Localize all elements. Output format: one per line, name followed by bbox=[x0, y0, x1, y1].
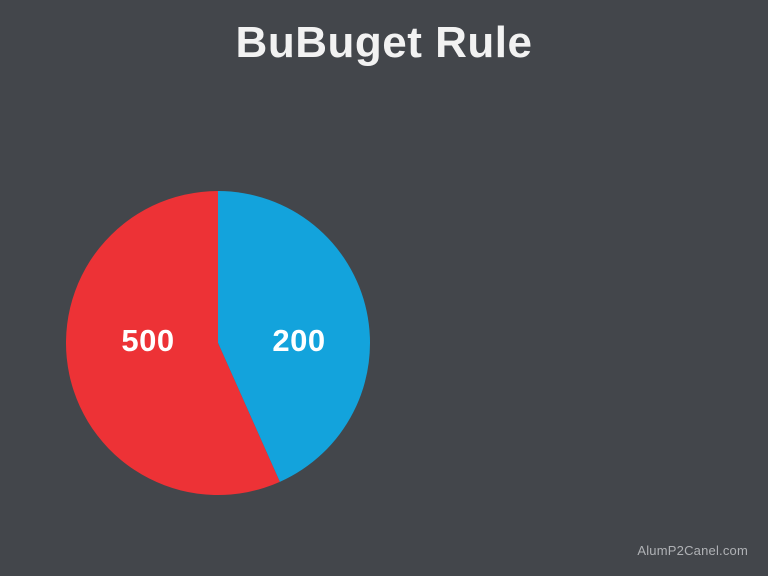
page-title: BuBuget Rule bbox=[0, 18, 768, 67]
watermark: AlumP2Canel.com bbox=[637, 543, 748, 558]
pie-slice-label-200: 200 bbox=[272, 323, 325, 359]
pie-slice-label-500: 500 bbox=[121, 323, 174, 359]
slide-canvas: BuBuget Rule 500 200 AlumP2Canel.com bbox=[0, 0, 768, 576]
